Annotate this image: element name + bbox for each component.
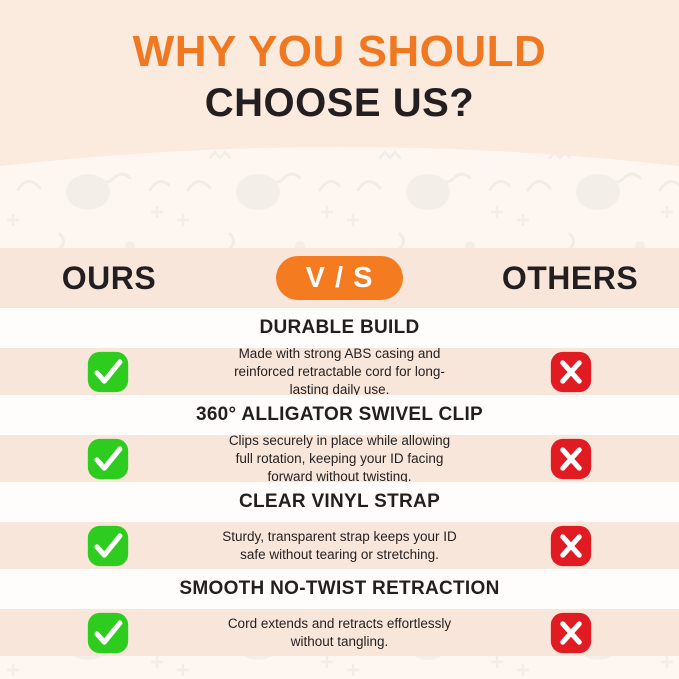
ours-cell [0,437,217,481]
feature-rows: DURABLE BUILD Made with strong ABS casin… [0,308,679,656]
cross-badge-icon [549,437,593,481]
feature-row: SMOOTH NO-TWIST RETRACTION Cord extends … [0,569,679,656]
ours-cell [0,611,217,655]
feature-body: Made with strong ABS casing and reinforc… [0,348,679,395]
feature-body: Sturdy, transparent strap keeps your ID … [0,522,679,569]
title-line-1: WHY YOU SHOULD [0,0,679,76]
comparison-header-row: OURS V / S OTHERS [0,248,679,308]
feature-title: SMOOTH NO-TWIST RETRACTION [0,569,679,609]
feature-description: Clips securely in place while allowing f… [217,432,463,486]
ours-cell [0,524,217,568]
feature-title: DURABLE BUILD [0,308,679,348]
check-badge-icon [86,350,130,394]
check-badge-icon [86,611,130,655]
feature-description: Made with strong ABS casing and reinforc… [217,345,463,399]
feature-title: CLEAR VINYL STRAP [0,482,679,522]
column-header-ours: OURS [0,260,218,297]
others-cell [462,611,679,655]
others-cell [462,437,679,481]
others-cell [462,524,679,568]
ours-cell [0,350,217,394]
cross-badge-icon [549,611,593,655]
versus-pill: V / S [276,256,404,300]
feature-description: Cord extends and retracts effortlessly w… [217,615,463,651]
check-badge-icon [86,437,130,481]
others-cell [462,350,679,394]
cross-badge-icon [549,350,593,394]
title-line-2: CHOOSE US? [0,76,679,126]
feature-body: Cord extends and retracts effortlessly w… [0,609,679,656]
check-badge-icon [86,524,130,568]
column-header-others: OTHERS [461,260,679,297]
page-title: WHY YOU SHOULD CHOOSE US? [0,0,679,126]
versus-pill-container: V / S [218,256,461,300]
feature-body: Clips securely in place while allowing f… [0,435,679,482]
feature-row: 360° ALLIGATOR SWIVEL CLIP Clips securel… [0,395,679,482]
comparison-infographic: WHY YOU SHOULD CHOOSE US? OURS V / S OTH… [0,0,679,679]
feature-description: Sturdy, transparent strap keeps your ID … [217,528,463,564]
feature-row: CLEAR VINYL STRAP Sturdy, transparent st… [0,482,679,569]
cross-badge-icon [549,524,593,568]
feature-row: DURABLE BUILD Made with strong ABS casin… [0,308,679,395]
feature-title: 360° ALLIGATOR SWIVEL CLIP [0,395,679,435]
